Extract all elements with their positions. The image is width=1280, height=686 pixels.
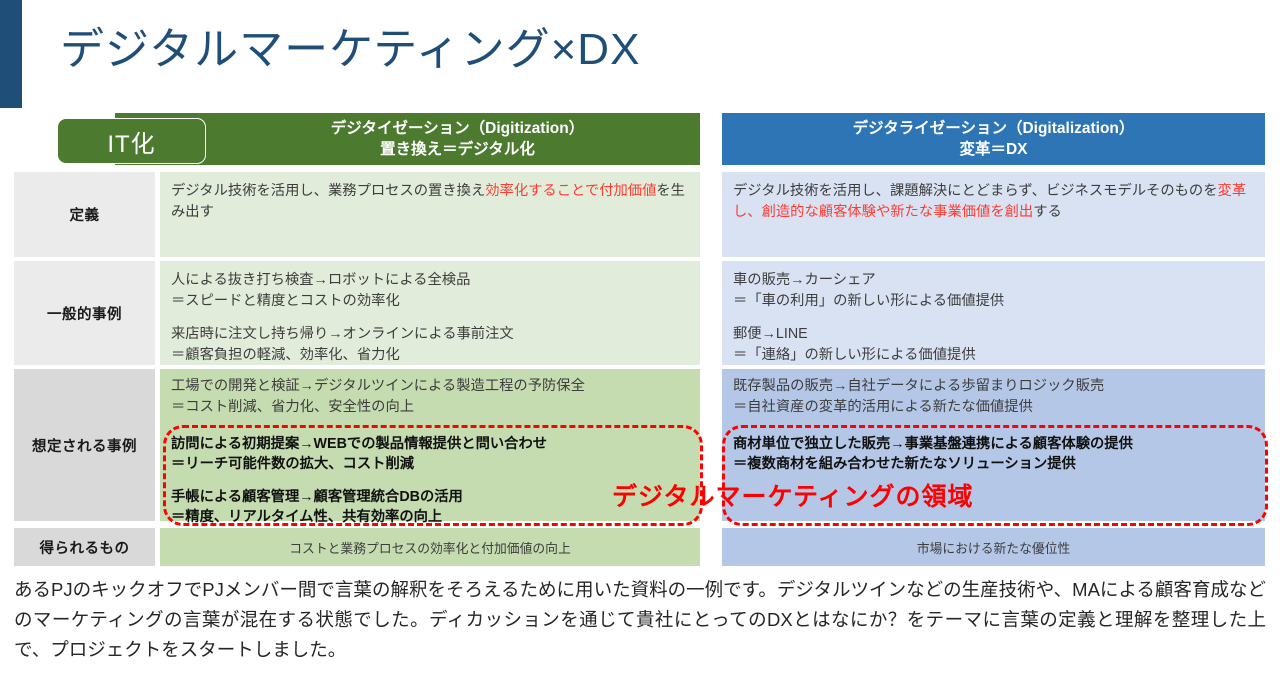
expected-left-example-1-line2: ＝コスト削減、省力化、安全性の向上 bbox=[171, 399, 414, 415]
row-label-expected-cases: 想定される事例 bbox=[14, 369, 155, 521]
definition-left-text: デジタル技術を活用し、業務プロセスの置き換え効率化することで付加価値を生み出す bbox=[171, 181, 689, 223]
cell-general-cases-digitalization: 車の販売→カーシェア ＝「車の利用」の新しい形による価値提供 郵便→LINE ＝… bbox=[722, 261, 1265, 365]
expected-right-example-1-line1: 既存製品の販売→自社データによる歩留まりロジック販売 bbox=[733, 378, 1104, 394]
expected-left-example-1: 工場での開発と検証→デジタルツインによる製造工程の予防保全 ＝コスト削減、省力化… bbox=[171, 376, 689, 418]
expected-right-highlight-1-line1: 商材単位で独立した販売→事業基盤連携による顧客体験の提供 bbox=[733, 436, 1133, 452]
row-label-outcomes: 得られるもの bbox=[14, 528, 155, 566]
slide-canvas: デジタルマーケティング×DX デジタイゼーション（Digitization） 置… bbox=[0, 0, 1280, 686]
general-left-example-1-line2: ＝スピードと精度とコストの効率化 bbox=[171, 293, 400, 309]
header-digitalization-line2: 変革＝DX bbox=[959, 139, 1027, 160]
header-digitization-line1: デジタイゼーション（Digitization） bbox=[331, 118, 584, 139]
definition-left-highlight: 効率化することで付加価値 bbox=[485, 183, 656, 199]
general-right-example-1-line1: 車の販売→カーシェア bbox=[733, 272, 876, 288]
row-label-general-cases: 一般的事例 bbox=[14, 261, 155, 365]
expected-left-highlight-1: 訪問による初期提案→WEBでの製品情報提供と問い合わせ ＝リーチ可能件数の拡大、… bbox=[171, 434, 689, 474]
page-title: デジタルマーケティング×DX bbox=[60, 18, 640, 82]
expected-left-highlight-2-line1: 手帳による顧客管理→顧客管理統合DBの活用 bbox=[171, 489, 463, 505]
general-right-example-1: 車の販売→カーシェア ＝「車の利用」の新しい形による価値提供 bbox=[733, 270, 1254, 312]
general-right-example-2: 郵便→LINE ＝「連絡」の新しい形による価値提供 bbox=[733, 324, 1254, 366]
row-label-definition: 定義 bbox=[14, 172, 155, 257]
expected-left-example-1-line1: 工場での開発と検証→デジタルツインによる製造工程の予防保全 bbox=[171, 378, 585, 394]
expected-left-highlight-1-line2: ＝リーチ可能件数の拡大、コスト削減 bbox=[171, 456, 414, 472]
header-digitization-line2: 置き換え＝デジタル化 bbox=[380, 139, 535, 160]
expected-right-example-1: 既存製品の販売→自社データによる歩留まりロジック販売 ＝自社資産の変革的活用によ… bbox=[733, 376, 1254, 418]
definition-right-text: デジタル技術を活用し、課題解決にとどまらず、ビジネスモデルそのものを変革し、創造… bbox=[733, 181, 1254, 223]
cell-outcomes-digitalization: 市場における新たな優位性 bbox=[722, 528, 1265, 566]
expected-left-highlight-1-line1: 訪問による初期提案→WEBでの製品情報提供と問い合わせ bbox=[171, 436, 547, 452]
general-right-example-1-line2: ＝「車の利用」の新しい形による価値提供 bbox=[733, 293, 1004, 309]
definition-right-part2: する bbox=[1033, 204, 1062, 220]
general-left-example-2: 来店時に注文し持ち帰り→オンラインによる事前注文 ＝顧客負担の軽減、効率化、省力… bbox=[171, 324, 689, 366]
general-left-example-1: 人による抜き打ち検査→ロボットによる全検品 ＝スピードと精度とコストの効率化 bbox=[171, 270, 689, 312]
general-left-example-2-line2: ＝顧客負担の軽減、効率化、省力化 bbox=[171, 347, 400, 363]
it-pill-badge: IT化 bbox=[57, 118, 206, 164]
general-left-example-1-line1: 人による抜き打ち検査→ロボットによる全検品 bbox=[171, 272, 470, 288]
callout-label-digital-marketing-domain: デジタルマーケティングの領域 bbox=[612, 477, 974, 513]
footer-description: あるPJのキックオフでPJメンバー間で言葉の解釈をそろえるために用いた資料の一例… bbox=[14, 575, 1266, 665]
header-digitalization-line1: デジタライゼーション（Digitalization） bbox=[853, 118, 1135, 139]
expected-left-highlight-2-line2: ＝精度、リアルタイム性、共有効率の向上 bbox=[171, 509, 442, 525]
cell-definition-digitization: デジタル技術を活用し、業務プロセスの置き換え効率化することで付加価値を生み出す bbox=[160, 172, 700, 257]
expected-right-example-1-line2: ＝自社資産の変革的活用による新たな価値提供 bbox=[733, 399, 1033, 415]
cell-general-cases-digitization: 人による抜き打ち検査→ロボットによる全検品 ＝スピードと精度とコストの効率化 来… bbox=[160, 261, 700, 365]
general-right-example-2-line1: 郵便→LINE bbox=[733, 326, 808, 342]
header-digitization: デジタイゼーション（Digitization） 置き換え＝デジタル化 bbox=[226, 113, 689, 165]
definition-left-part1: デジタル技術を活用し、業務プロセスの置き換え bbox=[171, 183, 485, 199]
header-digitalization: デジタライゼーション（Digitalization） 変革＝DX bbox=[722, 113, 1265, 165]
general-left-example-2-line1: 来店時に注文し持ち帰り→オンラインによる事前注文 bbox=[171, 326, 514, 342]
title-accent-bar bbox=[0, 0, 22, 108]
cell-definition-digitalization: デジタル技術を活用し、課題解決にとどまらず、ビジネスモデルそのものを変革し、創造… bbox=[722, 172, 1265, 257]
cell-outcomes-digitization: コストと業務プロセスの効率化と付加価値の向上 bbox=[160, 528, 700, 566]
general-right-example-2-line2: ＝「連絡」の新しい形による価値提供 bbox=[733, 347, 976, 363]
expected-right-highlight-1: 商材単位で独立した販売→事業基盤連携による顧客体験の提供 ＝複数商材を組み合わせ… bbox=[733, 434, 1254, 474]
definition-right-part1: デジタル技術を活用し、課題解決にとどまらず、ビジネスモデルそのものを bbox=[733, 183, 1218, 199]
expected-right-highlight-1-line2: ＝複数商材を組み合わせた新たなソリューション提供 bbox=[733, 456, 1076, 472]
